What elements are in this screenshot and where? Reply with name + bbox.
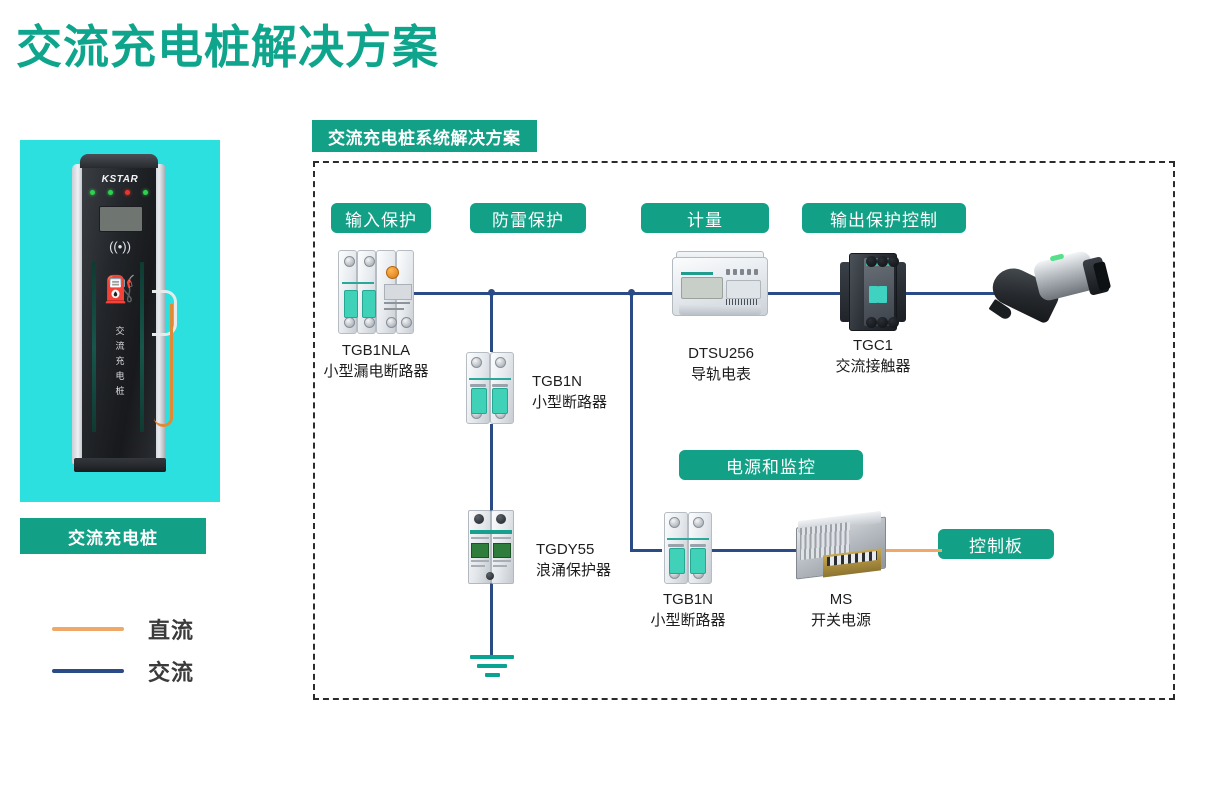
meter-led-2 (733, 269, 737, 275)
caption-mcb-tgb1n-aux: TGB1N 小型断路器 (623, 589, 753, 631)
caption-contactor-tgc1: TGC1 交流接触器 (808, 335, 938, 377)
meter-keypad-panel (726, 280, 762, 299)
contactor-right-side (897, 262, 906, 321)
rcbo-print-line-1 (384, 302, 410, 304)
rcbo-screw-3 (344, 317, 355, 328)
rcbo-screw-2 (364, 256, 375, 267)
wire-ac-spd-to-ground (490, 583, 493, 655)
led-green-2 (108, 190, 113, 195)
wire-ac-branch-aux (630, 292, 633, 550)
device-rcbo-tgb1nla (338, 250, 414, 334)
contactor-terminal-bot-3 (888, 317, 899, 328)
device-contactor-tgc1 (840, 253, 906, 331)
pile-base (74, 458, 166, 472)
meter-brand-bar (681, 272, 713, 275)
rfid-wave-icon: ((•)) (68, 240, 172, 253)
rcbo-teal-strip (342, 282, 374, 284)
rcbo-lever-1 (344, 290, 358, 318)
rcbo-test-button (386, 266, 399, 279)
pile-display-screen (99, 206, 143, 232)
contactor-lever-1 (869, 286, 878, 303)
meter-terminal-cover (679, 305, 762, 315)
caption-mcb-aux-name: 小型断路器 (623, 610, 753, 631)
charging-pile-illustration: KSTAR ((•)) ⛽ 交流充电桩 (68, 154, 172, 484)
pile-charging-cable (154, 304, 173, 427)
contactor-terminal-top-2 (877, 256, 888, 267)
device-mcb-tgb1n-aux (664, 512, 712, 584)
device-mcb-tgb1n-main (466, 352, 514, 424)
caption-mcb-main-name: 小型断路器 (532, 392, 682, 413)
mcb-aux-teal-strip (667, 538, 709, 540)
contactor-terminal-bot-2 (877, 317, 888, 328)
mcb-print-2 (492, 384, 508, 387)
wire-ac-aux-mcb-to-psu (712, 549, 800, 552)
mcb-aux-lever-1 (669, 548, 685, 574)
caption-psu-ms: MS 开关电源 (786, 589, 896, 631)
led-green-3 (143, 190, 148, 195)
caption-meter-name: 导轨电表 (656, 364, 786, 385)
meter-led-4 (747, 269, 751, 275)
rcbo-screw-4 (364, 317, 375, 328)
mcb-teal-strip (469, 378, 511, 380)
wire-ac-branch-spd-upper (490, 292, 493, 352)
caption-psu-name: 开关电源 (786, 610, 896, 631)
spd-print-5 (471, 565, 485, 567)
device-psu-ms (796, 512, 886, 584)
page-title: 交流充电桩解决方案 (16, 22, 439, 73)
mcb-aux-print-2 (690, 544, 706, 547)
mcb-aux-screw-1 (669, 517, 680, 528)
spd-print-3 (471, 560, 489, 562)
junction-spd-branch (488, 289, 495, 296)
caption-meter-model: DTSU256 (656, 343, 786, 364)
caption-contactor-name: 交流接触器 (808, 356, 938, 377)
legend: 直流 交流 (52, 608, 194, 692)
spd-print-6 (493, 565, 507, 567)
mcb-screw-1 (471, 357, 482, 368)
caption-contactor-model: TGC1 (808, 335, 938, 356)
legend-swatch-dc (52, 627, 124, 631)
wire-ac-branch-spd-lower (490, 424, 493, 514)
rcbo-lever-2 (362, 290, 376, 318)
spd-bottom-knob (486, 572, 494, 580)
product-photo: KSTAR ((•)) ⛽ 交流充电桩 (20, 140, 220, 502)
legend-item-ac: 交流 (52, 650, 194, 692)
pile-brand-label: KSTAR (68, 174, 172, 185)
spd-brand-bar (470, 530, 512, 534)
ground-bar-3 (485, 673, 500, 677)
spd-status-window-1 (471, 543, 489, 558)
legend-label-dc: 直流 (148, 613, 194, 645)
spd-print-2 (493, 537, 511, 539)
mcb-aux-print-1 (668, 544, 684, 547)
group-label-power-and-monitoring: 电源和监控 (679, 450, 863, 480)
contactor-lever-2 (878, 286, 887, 303)
meter-led-5 (754, 269, 758, 275)
spd-print-4 (493, 560, 511, 562)
spd-terminal-knob-2 (496, 514, 506, 524)
product-caption: 交流充电桩 (20, 518, 206, 554)
meter-led-1 (726, 269, 730, 275)
mcb-screw-2 (495, 357, 506, 368)
legend-item-dc: 直流 (52, 608, 194, 650)
group-label-input-protection: 输入保护 (331, 203, 431, 233)
rcbo-print-line-2 (384, 308, 404, 310)
spd-status-window-2 (493, 543, 511, 558)
led-green-1 (90, 190, 95, 195)
spd-print-1 (471, 537, 489, 539)
mcb-print-1 (470, 384, 486, 387)
rcbo-screw-6 (401, 317, 412, 328)
caption-meter-dtsu256: DTSU256 导轨电表 (656, 343, 786, 385)
mcb-aux-screw-2 (693, 517, 704, 528)
mcb-lever-1 (471, 388, 487, 414)
mcb-aux-lever-2 (690, 548, 706, 574)
meter-led-3 (740, 269, 744, 275)
meter-lcd-display (681, 277, 722, 298)
led-red (125, 190, 130, 195)
ground-bar-2 (477, 664, 507, 668)
caption-rcbo-name: 小型漏电断路器 (288, 361, 464, 382)
ground-bar-1 (470, 655, 514, 659)
rcbo-screw-1 (344, 256, 355, 267)
endpoint-label-control-board: 控制板 (938, 529, 1054, 559)
meter-indicator-leds (726, 269, 758, 275)
caption-mcb-aux-model: TGB1N (623, 589, 753, 610)
pile-top-cap (80, 154, 158, 168)
wire-dc-psu-to-control-board (884, 549, 942, 552)
group-label-metering: 计量 (641, 203, 769, 233)
caption-psu-model: MS (786, 589, 896, 610)
group-label-lightning-protection: 防雷保护 (470, 203, 586, 233)
caption-rcbo-model: TGB1NLA (288, 340, 464, 361)
legend-label-ac: 交流 (148, 655, 194, 687)
mcb-lever-2 (492, 388, 508, 414)
pile-status-leds (90, 190, 148, 195)
ev-charging-gun-icon (990, 252, 1120, 332)
rcbo-label-window (384, 284, 412, 300)
group-label-output-protection-control: 输出保护控制 (802, 203, 966, 233)
section-banner: 交流充电桩系统解决方案 (312, 120, 537, 152)
page-root: 交流充电桩解决方案 KSTAR ((•)) ⛽ 交流充电桩 交流充 (0, 0, 1213, 812)
meter-shell (672, 257, 768, 316)
contactor-terminal-top-3 (888, 256, 899, 267)
caption-rcbo-tgb1nla: TGB1NLA 小型漏电断路器 (288, 340, 464, 382)
device-meter-dtsu256 (672, 251, 768, 331)
legend-swatch-ac (52, 669, 124, 673)
junction-aux-branch (628, 289, 635, 296)
spd-terminal-knob-1 (474, 514, 484, 524)
rcbo-screw-5 (386, 317, 397, 328)
device-spd-tgdy55 (468, 510, 514, 584)
